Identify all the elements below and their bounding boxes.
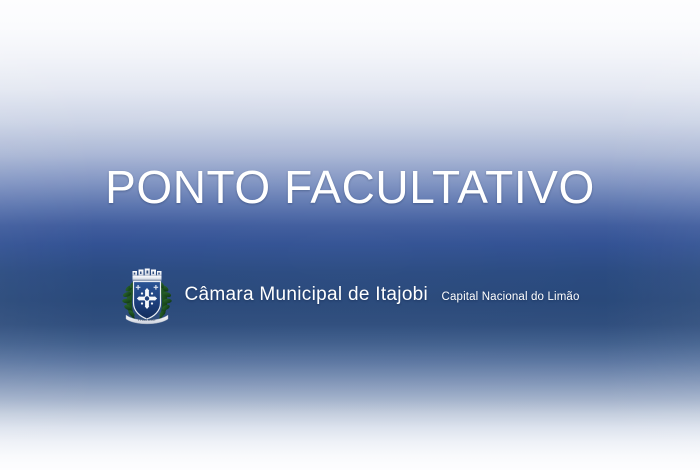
coat-of-arms-icon: ITAJOBI xyxy=(120,266,174,326)
announcement-banner: PONTO FACULTATIVO xyxy=(0,0,700,470)
headline-title: PONTO FACULTATIVO xyxy=(0,163,700,211)
ribbon-banner-text: ITAJOBI xyxy=(138,318,156,322)
brand-lockup: ITAJOBI Câmara Municipal de Itajobi Capi… xyxy=(0,266,700,326)
shield-icon xyxy=(134,282,161,320)
background-gradient xyxy=(0,0,700,470)
brand-title: Câmara Municipal de Itajobi xyxy=(184,284,428,305)
brand-text-block: Câmara Municipal de Itajobi Capital Naci… xyxy=(184,284,579,308)
mural-crown-icon xyxy=(133,269,162,281)
brand-tagline: Capital Nacional do Limão xyxy=(442,291,580,303)
